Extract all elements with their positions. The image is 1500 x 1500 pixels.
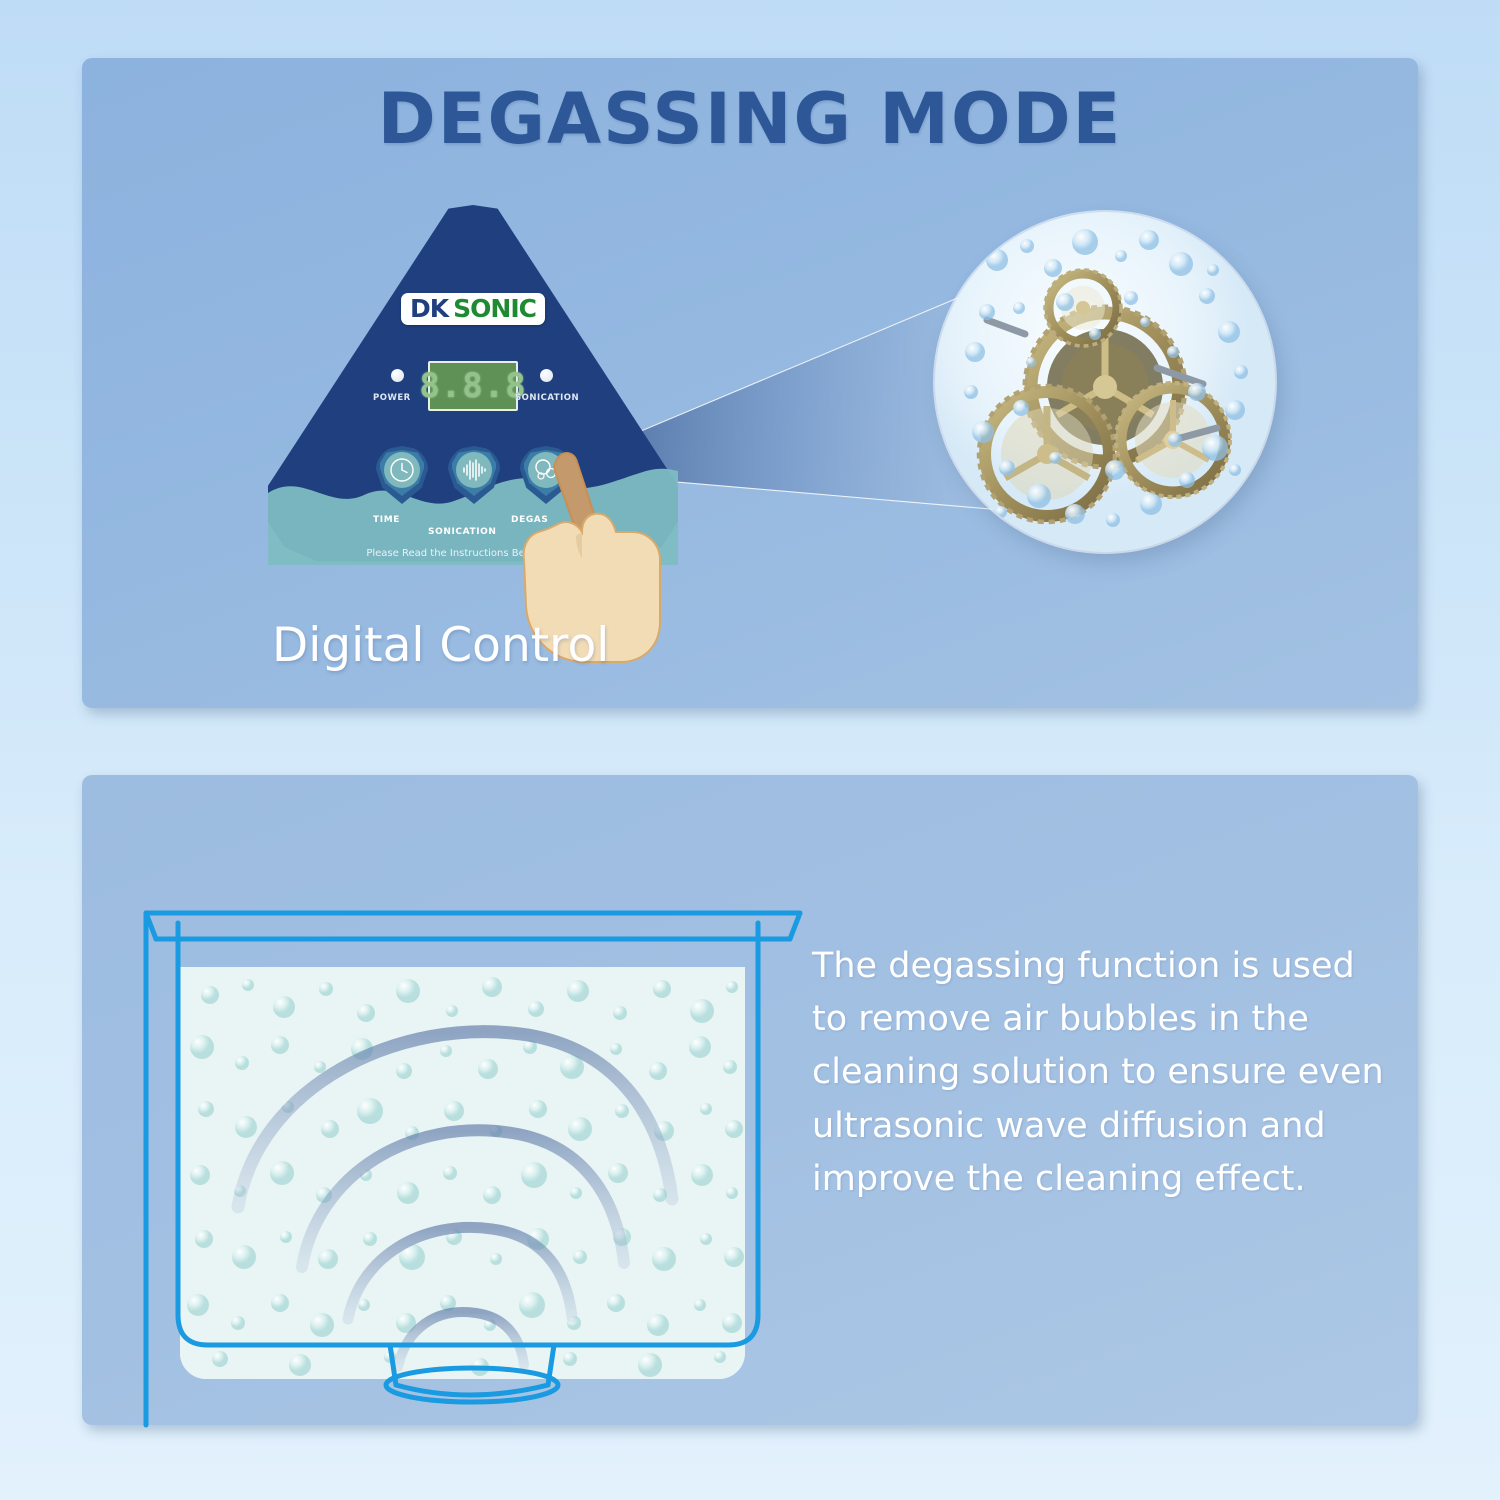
sonication-led-icon	[540, 369, 553, 382]
tank-outline	[128, 885, 818, 1430]
desc-line-4: ultrasonic wave diffusion and	[812, 1100, 1412, 1153]
brand-dk: DK	[410, 294, 448, 323]
clock-icon	[389, 457, 415, 483]
power-led-icon	[391, 369, 404, 382]
digital-control-caption: Digital Control	[272, 618, 609, 673]
sonication-button-label: SONICATION	[428, 527, 497, 537]
degassing-description: The degassing function is used to remove…	[812, 940, 1412, 1206]
page-stage: DEGASSING MODE	[0, 0, 1500, 1500]
sonication-button-face	[456, 452, 492, 488]
desc-line-5: improve the cleaning effect.	[812, 1153, 1412, 1206]
time-button-face	[384, 452, 420, 488]
brand-logo: DKSONIC	[401, 293, 545, 325]
gears-bubbles-illustration	[935, 212, 1275, 552]
sonication-button[interactable]	[448, 446, 500, 504]
desc-line-2: to remove air bubbles in the	[812, 993, 1412, 1046]
display-value: 8.8.8	[419, 366, 526, 406]
power-led-label: POWER	[373, 393, 411, 403]
waveform-icon	[460, 457, 488, 483]
time-button[interactable]	[376, 446, 428, 504]
desc-line-1: The degassing function is used	[812, 940, 1412, 993]
ultrasonic-tank-illustration	[128, 885, 818, 1430]
desc-line-3: cleaning solution to ensure even	[812, 1046, 1412, 1099]
page-title: DEGASSING MODE	[0, 78, 1500, 160]
brand-sonic: SONIC	[453, 294, 536, 323]
magnified-gears-view	[935, 212, 1275, 552]
time-button-label: TIME	[373, 515, 400, 525]
sonication-led-label: SONICATION	[515, 393, 579, 403]
digital-display: 8.8.8	[428, 361, 518, 411]
